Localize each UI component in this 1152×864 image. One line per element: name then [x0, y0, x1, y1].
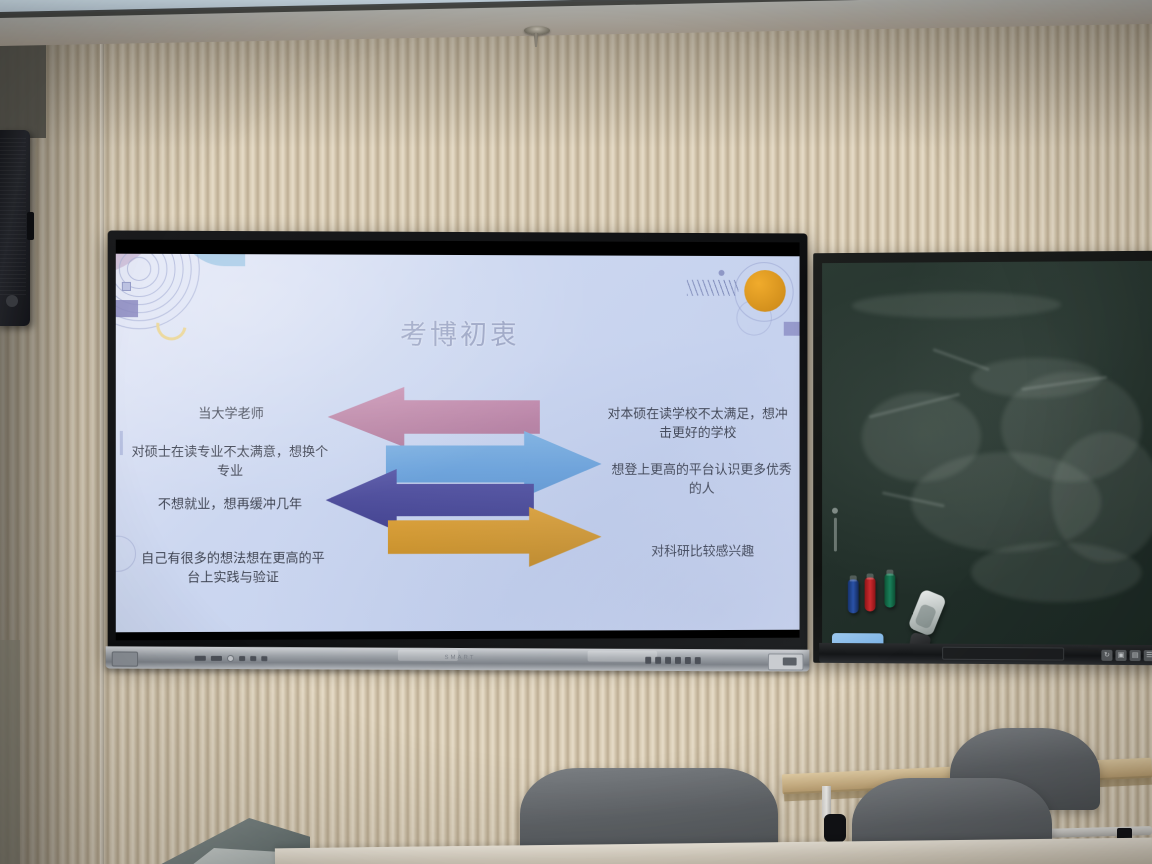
- indicator-led-icon: [227, 655, 234, 662]
- slide-label-right-2: 想登上更高的平台认识更多优秀的人: [609, 461, 793, 499]
- grid-icon[interactable]: ▤: [1130, 650, 1141, 661]
- left-tick-decoration: [120, 431, 123, 455]
- slide-title: 考博初衷: [116, 312, 800, 353]
- chalkboard-surface[interactable]: [822, 261, 1152, 647]
- tray-slot: [942, 647, 1064, 661]
- slide-label-left-4: 自己有很多的想法想在更高的平台上实践与验证: [136, 549, 330, 587]
- display-brand-mark: SMART: [445, 655, 476, 661]
- slide-label-left-3: 不想就业，想再缓冲几年: [134, 495, 326, 514]
- speaker-bracket: [27, 212, 34, 240]
- orange-sun-circle-icon: [744, 270, 785, 312]
- ir-sensor-left: [112, 651, 138, 666]
- hatch-lines-decoration: [687, 280, 738, 296]
- refresh-icon[interactable]: ↻: [1101, 650, 1112, 661]
- wall-dark-corner-lower: [0, 640, 20, 864]
- small-dot-icon: [719, 270, 725, 276]
- source-button[interactable]: [211, 656, 222, 661]
- usb-port-5[interactable]: [685, 657, 691, 664]
- slide-label-right-3: 对科研比较感兴趣: [613, 542, 791, 561]
- chalkboard-control-buttons[interactable]: ↻ ▣ ▤ ☰: [1101, 650, 1152, 661]
- pink-arrow-left-icon: [328, 387, 540, 447]
- slide-label-left-1: 当大学老师: [144, 405, 318, 424]
- left-ring-decoration: [116, 536, 136, 572]
- presentation-slide: 考博初衷 当大学老师 对硕士在读专业不太满意，想换个专业 不想就业，想再缓冲几年…: [116, 254, 800, 633]
- chalkboard-hook-dot: [832, 508, 838, 514]
- small-square-icon: [122, 282, 131, 291]
- marker-blue[interactable]: [848, 579, 859, 613]
- wall-panel-seam: [100, 18, 104, 864]
- usb-port-3[interactable]: [665, 657, 671, 664]
- ir-sensor-right: [768, 653, 804, 670]
- power-button[interactable]: [195, 656, 206, 661]
- display-screen[interactable]: 考博初衷 当大学老师 对硕士在读专业不太满意，想换个专业 不想就业，想再缓冲几年…: [116, 240, 800, 641]
- marker-green[interactable]: [884, 574, 895, 608]
- chalkboard-hook: [834, 518, 837, 552]
- usb-port-2[interactable]: [655, 657, 661, 664]
- speaker-grille: [0, 138, 26, 296]
- classroom-scene: 考博初衷 当大学老师 对硕士在读专业不太满意，想换个专业 不想就业，想再缓冲几年…: [0, 0, 1152, 864]
- chalk-tray: ↻ ▣ ▤ ☰: [819, 643, 1152, 665]
- speaker-logo-icon: [6, 295, 18, 307]
- usb-port-6[interactable]: [695, 657, 701, 664]
- slide-label-right-1: 对本硕在读学校不太满足，想冲击更好的学校: [604, 405, 792, 443]
- display-control-bar[interactable]: SMART: [106, 646, 810, 671]
- display-button-group-right[interactable]: [645, 657, 701, 664]
- window-icon[interactable]: ▣: [1115, 650, 1126, 661]
- display-button-group-left[interactable]: [195, 655, 268, 662]
- volume-up-button[interactable]: [250, 656, 256, 661]
- volume-down-button[interactable]: [239, 656, 245, 661]
- usb-port-4[interactable]: [675, 657, 681, 664]
- menu-icon[interactable]: ☰: [1144, 650, 1152, 661]
- arrow-diagram: [326, 387, 602, 567]
- usb-port-1[interactable]: [645, 657, 651, 664]
- desk-caster: [824, 814, 846, 842]
- interactive-flat-panel[interactable]: 考博初衷 当大学老师 对硕士在读专业不太满意，想换个专业 不想就业，想再缓冲几年…: [108, 231, 808, 659]
- marker-red[interactable]: [865, 577, 876, 611]
- green-chalkboard: ↻ ▣ ▤ ☰: [813, 251, 1152, 666]
- white-eraser[interactable]: [907, 588, 947, 637]
- slide-label-left-2: 对硕士在读专业不太满意，想换个专业: [126, 443, 334, 481]
- menu-button[interactable]: [261, 656, 267, 661]
